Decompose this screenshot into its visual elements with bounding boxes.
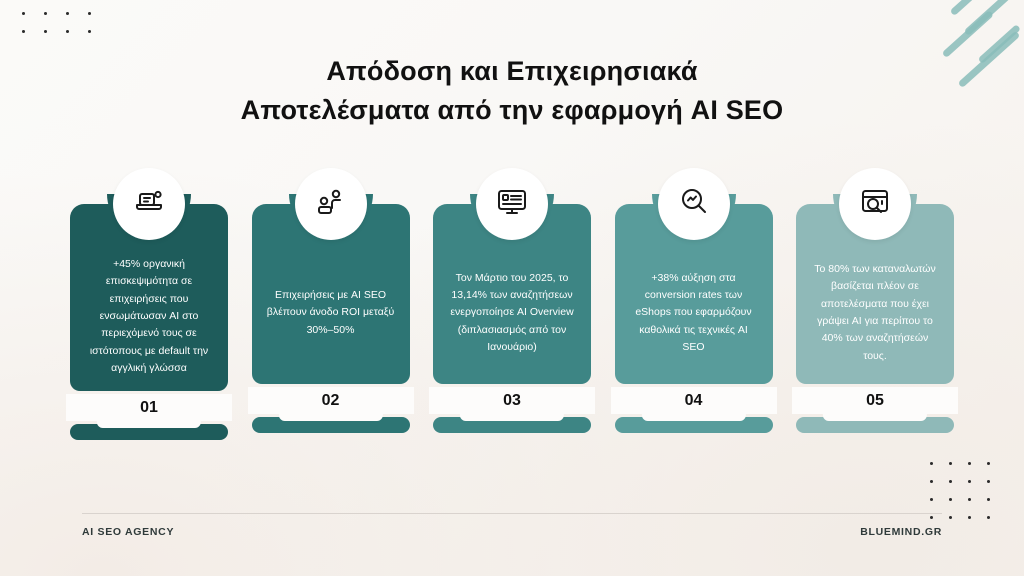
card-footer-bar bbox=[615, 417, 773, 433]
decorative-dot bbox=[968, 516, 971, 519]
card-icon-badge bbox=[295, 168, 367, 240]
footer-agency-label: AI SEO AGENCY bbox=[82, 526, 174, 538]
card-text: +38% αύξηση στα conversion rates των eSh… bbox=[629, 270, 759, 357]
decorative-dot bbox=[88, 30, 91, 33]
decorative-dot bbox=[987, 516, 990, 519]
card-number-bar: 02 bbox=[252, 387, 410, 433]
decorative-dot bbox=[949, 516, 952, 519]
browser-search-icon bbox=[859, 186, 891, 223]
card-icon-badge bbox=[113, 168, 185, 240]
decorative-dot bbox=[968, 498, 971, 501]
decorative-dot bbox=[930, 516, 933, 519]
card-text: Το 80% των καταναλωτών βασίζεται πλέον σ… bbox=[810, 261, 940, 365]
infographic-card: Το 80% των καταναλωτών βασίζεται πλέον σ… bbox=[796, 168, 954, 440]
decorative-dot bbox=[968, 480, 971, 483]
infographic-card-list: +45% οργανική επισκεψιμότητα σε επιχειρή… bbox=[70, 168, 954, 440]
card-number-bar: 03 bbox=[433, 387, 591, 433]
decorative-dot bbox=[987, 498, 990, 501]
decorative-dot bbox=[44, 12, 47, 15]
card-text: Τον Μάρτιο του 2025, το 13,14% των αναζη… bbox=[447, 270, 577, 357]
card-number: 02 bbox=[252, 387, 410, 414]
card-number: 03 bbox=[433, 387, 591, 414]
card-icon-badge bbox=[839, 168, 911, 240]
decorative-dot bbox=[949, 498, 952, 501]
decorative-dot bbox=[88, 12, 91, 15]
search-trend-icon bbox=[678, 186, 710, 223]
card-text: +45% οργανική επισκεψιμότητα σε επιχειρή… bbox=[84, 256, 214, 377]
decorative-dot-grid-top-left bbox=[22, 12, 110, 48]
card-footer-bar bbox=[252, 417, 410, 433]
decorative-dot bbox=[930, 480, 933, 483]
decorative-dot bbox=[44, 30, 47, 33]
decorative-dot bbox=[949, 480, 952, 483]
card-footer-bar bbox=[433, 417, 591, 433]
users-icon bbox=[315, 186, 347, 223]
card-number: 04 bbox=[615, 387, 773, 414]
card-footer-bar bbox=[70, 424, 228, 440]
page-title: Απόδοση και Επιχειρησιακά Αποτελέσματα α… bbox=[0, 52, 1024, 130]
decorative-dot bbox=[22, 30, 25, 33]
card-icon-badge bbox=[476, 168, 548, 240]
page-title-line-1: Απόδοση και Επιχειρησιακά bbox=[326, 56, 697, 86]
laptop-content-icon bbox=[133, 186, 165, 223]
footer-website-label: BLUEMIND.GR bbox=[860, 526, 942, 538]
decorative-dot bbox=[66, 12, 69, 15]
infographic-card: +45% οργανική επισκεψιμότητα σε επιχειρή… bbox=[70, 168, 228, 440]
decorative-dot bbox=[949, 462, 952, 465]
card-number-bar: 05 bbox=[796, 387, 954, 433]
decorative-dot bbox=[66, 30, 69, 33]
page-title-line-2: Αποτελέσματα από την εφαρμογή AI SEO bbox=[241, 95, 784, 125]
monitor-article-icon bbox=[496, 186, 528, 223]
decorative-dot bbox=[987, 462, 990, 465]
infographic-card: Επιχειρήσεις με AI SEO βλέπουν άνοδο ROI… bbox=[252, 168, 410, 440]
decorative-dot bbox=[22, 12, 25, 15]
card-number-bar: 01 bbox=[70, 394, 228, 440]
card-number: 01 bbox=[70, 394, 228, 421]
decorative-dot bbox=[930, 462, 933, 465]
card-number-bar: 04 bbox=[615, 387, 773, 433]
decorative-dot bbox=[930, 498, 933, 501]
decorative-dot bbox=[987, 480, 990, 483]
card-icon-badge bbox=[658, 168, 730, 240]
decorative-dot bbox=[968, 462, 971, 465]
card-footer-bar bbox=[796, 417, 954, 433]
card-text: Επιχειρήσεις με AI SEO βλέπουν άνοδο ROI… bbox=[266, 287, 396, 339]
infographic-card: Τον Μάρτιο του 2025, το 13,14% των αναζη… bbox=[433, 168, 591, 440]
infographic-card: +38% αύξηση στα conversion rates των eSh… bbox=[615, 168, 773, 440]
footer-divider bbox=[82, 513, 942, 514]
card-number: 05 bbox=[796, 387, 954, 414]
decorative-dot-grid-bottom-right bbox=[930, 462, 1006, 534]
